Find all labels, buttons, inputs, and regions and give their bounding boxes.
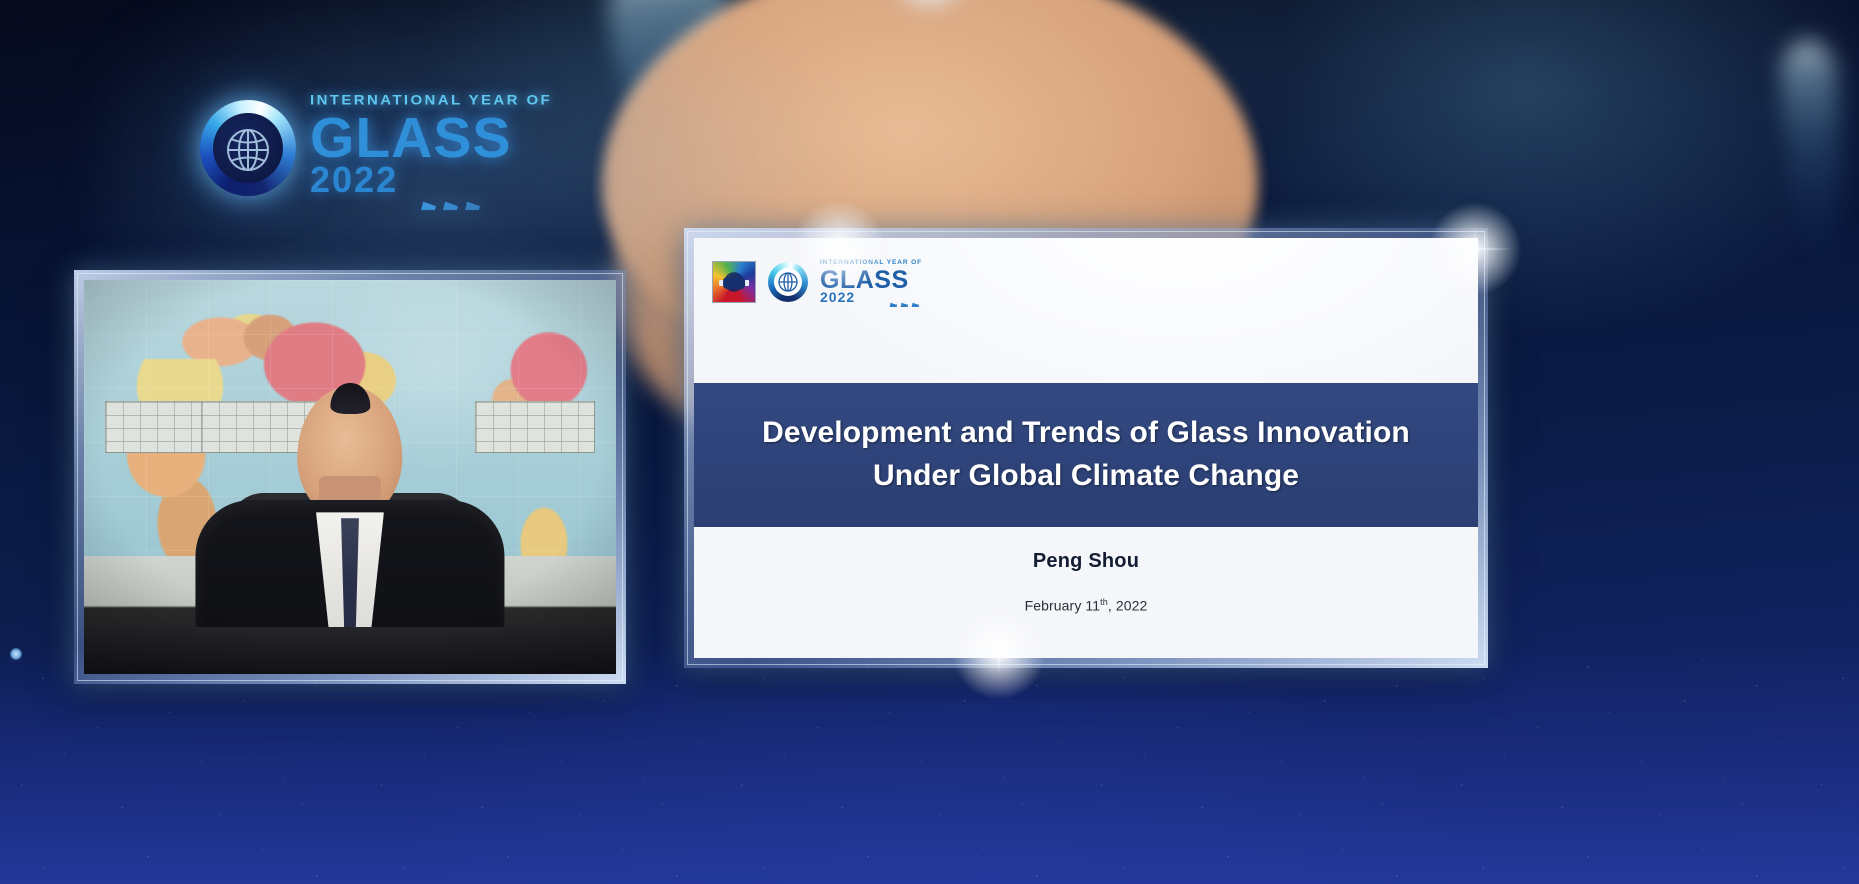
slide-date: February 11th, 2022: [694, 597, 1478, 614]
globe-glyph-icon: [776, 270, 800, 294]
slide-iyog-wordmark: INTERNATIONAL YEAR OF GLASS 2022: [820, 260, 922, 304]
speaker-hair: [330, 383, 370, 415]
rainbow-emblem-icon: [712, 261, 756, 303]
broadcast-stage: INTERNATIONAL YEAR OF GLASS 2022: [0, 0, 1859, 884]
iyog-tagline: INTERNATIONAL YEAR OF: [310, 93, 490, 109]
globe-glyph-icon: [220, 120, 276, 176]
light-orb-icon: [10, 648, 22, 660]
speaker-video-panel[interactable]: [74, 270, 626, 684]
slide-presenter-name: Peng Shou: [694, 550, 1478, 573]
slide-title-line-2: Under Global Climate Change: [873, 455, 1299, 498]
presentation-slide-panel[interactable]: INTERNATIONAL YEAR OF GLASS 2022 Develop…: [684, 228, 1488, 668]
iyog-header-logo: INTERNATIONAL YEAR OF GLASS 2022: [192, 86, 492, 208]
speaker-video-feed[interactable]: [84, 280, 616, 674]
spotlight-beam: [1778, 38, 1851, 281]
slide-title-line-1: Development and Trends of Glass Innovati…: [762, 412, 1410, 455]
slide-logo-group: INTERNATIONAL YEAR OF GLASS 2022: [712, 260, 922, 304]
slide-date-prefix: February 11: [1025, 598, 1101, 614]
slide-title-band: Development and Trends of Glass Innovati…: [694, 383, 1478, 527]
iyog-globe-icon: [768, 262, 808, 302]
slide-date-suffix: , 2022: [1108, 598, 1148, 614]
desk-surface: [84, 627, 616, 674]
slide-date-ordinal: th: [1100, 597, 1108, 607]
spotlight-beam: [601, 0, 766, 266]
slide-canvas[interactable]: INTERNATIONAL YEAR OF GLASS 2022 Develop…: [694, 238, 1478, 658]
